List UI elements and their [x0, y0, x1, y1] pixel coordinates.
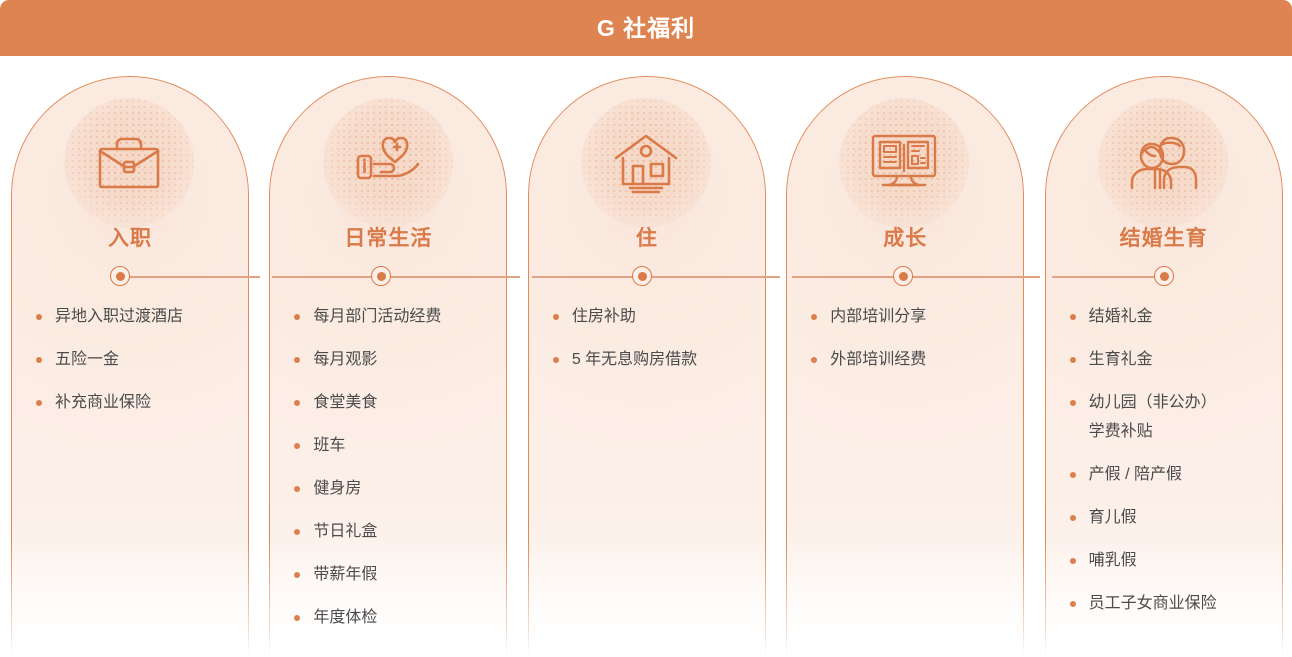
- list-item: 育儿假: [1063, 507, 1275, 529]
- columns-container: 入职 异地入职过渡酒店 五险一金 补充商业保险 日常生活: [0, 76, 1292, 657]
- list-item-continuation: 学费补贴: [1063, 421, 1275, 443]
- list-item: 健身房: [287, 478, 499, 500]
- benefit-column-daily-life: 日常生活 每月部门活动经费 每月观影 食堂美食 班车 健身房 节日礼盒 带薪年假…: [269, 76, 505, 657]
- benefit-list: 内部培训分享 外部培训经费: [804, 306, 1016, 392]
- house-icon: [600, 120, 692, 206]
- benefit-column-onboarding: 入职 异地入职过渡酒店 五险一金 补充商业保险: [11, 76, 247, 657]
- list-item: 结婚礼金: [1063, 306, 1275, 328]
- list-item: 节日礼盒: [287, 521, 499, 543]
- list-item: 带薪年假: [287, 564, 499, 586]
- column-title: 结婚生育: [1045, 228, 1283, 249]
- list-item: 每月部门活动经费: [287, 306, 499, 328]
- list-item: 5 年无息购房借款: [546, 349, 758, 371]
- benefits-infographic: G 社福利 入职 异地入职过渡酒店 五险一金 补充商业保险: [0, 0, 1292, 657]
- column-title: 成长: [786, 228, 1024, 249]
- list-item: 外部培训经费: [804, 349, 1016, 371]
- list-item: 哺乳假: [1063, 550, 1275, 572]
- list-item: 五险一金: [29, 349, 241, 371]
- benefit-list: 结婚礼金 生育礼金 幼儿园（非公办） 学费补贴 产假 / 陪产假 育儿假 哺乳假…: [1063, 306, 1275, 636]
- page-title: G 社福利: [597, 17, 695, 40]
- briefcase-icon: [83, 120, 175, 206]
- list-item: 食堂美食: [287, 392, 499, 414]
- list-item: 幼儿园（非公办）: [1063, 392, 1275, 414]
- couple-icon: [1117, 120, 1209, 206]
- list-item: 员工子女商业保险: [1063, 593, 1275, 615]
- column-title: 住: [528, 228, 766, 249]
- column-title: 日常生活: [269, 228, 507, 249]
- benefit-column-housing: 住 住房补助 5 年无息购房借款: [528, 76, 764, 657]
- monitor-book-icon: [858, 120, 950, 206]
- benefit-list: 异地入职过渡酒店 五险一金 补充商业保险: [29, 306, 241, 435]
- benefit-list: 住房补助 5 年无息购房借款: [546, 306, 758, 392]
- benefit-column-growth: 成长 内部培训分享 外部培训经费: [786, 76, 1022, 657]
- list-item: 每月观影: [287, 349, 499, 371]
- list-item: 补充商业保险: [29, 392, 241, 414]
- hand-heart-care-icon: [342, 120, 434, 206]
- list-item: 产假 / 陪产假: [1063, 464, 1275, 486]
- list-item: 年度体检: [287, 607, 499, 629]
- list-item: 生育礼金: [1063, 349, 1275, 371]
- benefit-column-marriage-parenting: 结婚生育 结婚礼金 生育礼金 幼儿园（非公办） 学费补贴 产假 / 陪产假 育儿…: [1045, 76, 1281, 657]
- list-item: 住房补助: [546, 306, 758, 328]
- list-item: 班车: [287, 435, 499, 457]
- benefit-list: 每月部门活动经费 每月观影 食堂美食 班车 健身房 节日礼盒 带薪年假 年度体检: [287, 306, 499, 650]
- header-bar: G 社福利: [0, 0, 1292, 56]
- list-item: 内部培训分享: [804, 306, 1016, 328]
- column-title: 入职: [11, 228, 249, 249]
- list-item: 异地入职过渡酒店: [29, 306, 241, 328]
